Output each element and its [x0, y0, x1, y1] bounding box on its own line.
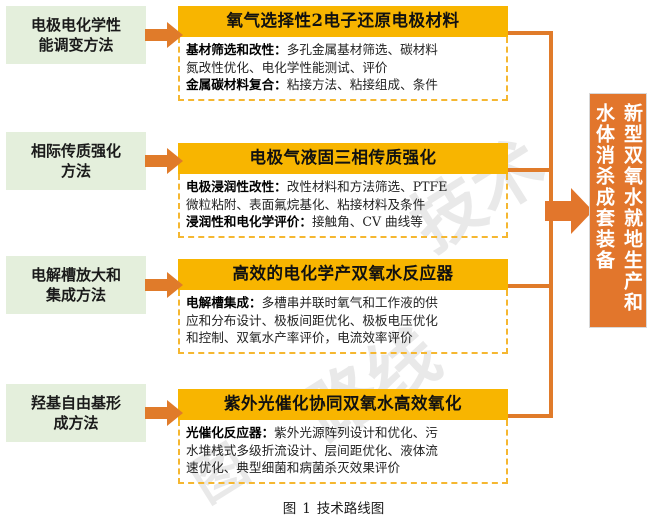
- method-box-1-label: 电极电化学性能调变方法: [31, 15, 121, 55]
- group-1-details: 基材筛选和改性：多孔金属基材筛选、碳材料 氮改性优化、电化学性能测试、评价 金属…: [178, 37, 508, 101]
- group-4: 紫外光催化协同双氧水高效氧化 光催化反应器：紫外光源阵列设计和优化、污 水堆栈式…: [178, 389, 508, 484]
- caption-prefix: 图: [283, 501, 297, 517]
- detail-line: 应和分布设计、极板间距优化、极板电压优化: [186, 312, 500, 330]
- method-box-3-label: 电解槽放大和集成方法: [31, 265, 121, 305]
- group-4-details: 光催化反应器：紫外光源阵列设计和优化、污 水堆栈式多级折流设计、层间距优化、液体…: [178, 420, 508, 484]
- method-box-1: 电极电化学性能调变方法: [6, 6, 146, 64]
- method-box-2-label: 相际传质强化方法: [31, 141, 121, 181]
- connector-corner-top: [505, 31, 553, 35]
- method-box-4-label: 羟基自由基形成方法: [31, 393, 121, 433]
- connector-branch-3: [505, 284, 553, 288]
- group-2-details: 电极浸润性改性：改性材料和方法筛选、PTFE 微粒粘附、表面氟烷基化、粘接材料及…: [178, 174, 508, 238]
- arrow-icon-2: [145, 148, 183, 174]
- connector-branch-2: [505, 168, 553, 172]
- detail-line: 氮改性优化、电化学性能测试、评价: [186, 59, 500, 77]
- group-1: 氧气选择性2电子还原电极材料 基材筛选和改性：多孔金属基材筛选、碳材料 氮改性优…: [178, 6, 508, 101]
- method-box-3: 电解槽放大和集成方法: [6, 256, 146, 314]
- group-2: 电极气液固三相传质强化 电极浸润性改性：改性材料和方法筛选、PTFE 微粒粘附、…: [178, 143, 508, 238]
- method-box-4: 羟基自由基形成方法: [6, 384, 146, 442]
- detail-line: 电极浸润性改性：改性材料和方法筛选、PTFE: [186, 178, 500, 196]
- arrow-icon-4: [145, 400, 183, 426]
- arrow-icon-to-product: [545, 188, 593, 234]
- group-3-details: 电解槽集成：多槽串并联时氧气和工作液的供 应和分布设计、极板间距优化、极板电压优…: [178, 290, 508, 354]
- detail-line: 基材筛选和改性：多孔金属基材筛选、碳材料: [186, 41, 500, 59]
- detail-line: 水堆栈式多级折流设计、层间距优化、液体流: [186, 442, 500, 460]
- detail-line: 金属碳材料复合：粘接方法、粘接组成、条件: [186, 76, 500, 94]
- product-box: 新型双氧水就地生产和水体消杀成套装备: [589, 93, 647, 328]
- connector-corner-bottom: [505, 414, 553, 418]
- group-4-title: 紫外光催化协同双氧水高效氧化: [178, 389, 508, 420]
- figure-caption: 图1技术路线图: [0, 497, 667, 517]
- arrow-icon-3: [145, 272, 183, 298]
- arrow-icon-1: [145, 22, 183, 48]
- method-box-2: 相际传质强化方法: [6, 132, 146, 190]
- group-3: 高效的电化学产双氧水反应器 电解槽集成：多槽串并联时氧气和工作液的供 应和分布设…: [178, 259, 508, 354]
- group-2-title: 电极气液固三相传质强化: [178, 143, 508, 174]
- detail-line: 速优化、典型细菌和病菌杀灭效果评价: [186, 459, 500, 477]
- detail-line: 浸润性和电化学评价：接触角、CV 曲线等: [186, 213, 500, 231]
- detail-line: 和控制、双氧水产率评价，电流效率评价: [186, 329, 500, 347]
- group-3-title: 高效的电化学产双氧水反应器: [178, 259, 508, 290]
- roadmap-diagram: 技术 路线 图 电极电化学性能调变方法 氧气选择性2电子还原电极材料 基材筛选和…: [0, 0, 667, 527]
- group-1-title: 氧气选择性2电子还原电极材料: [178, 6, 508, 37]
- caption-title: 技术路线图: [317, 501, 385, 517]
- detail-line: 微粒粘附、表面氟烷基化、粘接材料及条件: [186, 196, 500, 214]
- caption-number: 1: [302, 501, 311, 517]
- product-box-label: 新型双氧水就地生产和水体消杀成套装备: [590, 103, 646, 318]
- detail-line: 光催化反应器：紫外光源阵列设计和优化、污: [186, 424, 500, 442]
- detail-line: 电解槽集成：多槽串并联时氧气和工作液的供: [186, 294, 500, 312]
